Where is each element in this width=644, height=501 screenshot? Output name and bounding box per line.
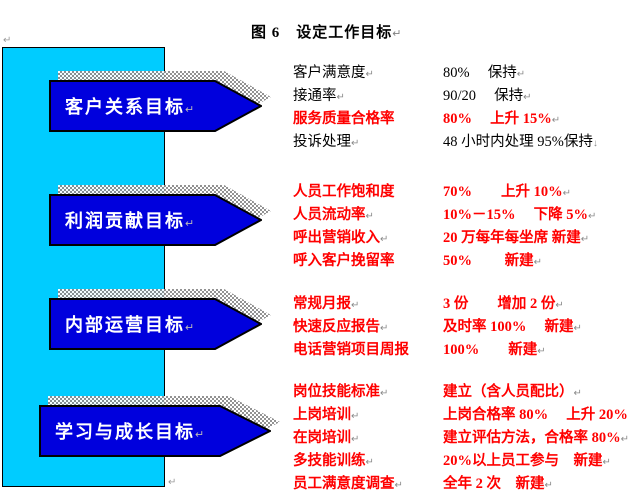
paragraph-mark-icon: ↵ — [621, 434, 629, 445]
goal-arrow-learning-growth[interactable]: 学习与成长目标↵ — [39, 405, 271, 457]
paragraph-mark-icon: ↵ — [351, 411, 359, 422]
metric-label: 投诉处理↵ — [293, 131, 443, 154]
metric-label-text: 岗位技能标准 — [293, 384, 380, 400]
paragraph-mark-icon: ↵ — [195, 429, 204, 441]
goal-metric-row: 人员工作饱和度 70% 上升 10%↵ — [293, 181, 596, 204]
paragraph-mark-icon: ↵ — [555, 300, 563, 311]
metric-value-text: 建立（含人员配比） — [443, 384, 574, 400]
metric-value-text: 上岗合格率 80% 上升 20% — [443, 407, 628, 423]
goal-arrow-internal-operations[interactable]: 内部运营目标↵ — [49, 298, 262, 350]
paragraph-mark-icon: ↵ — [366, 211, 374, 222]
paragraph-mark-icon: ↵ — [366, 457, 374, 468]
paragraph-mark-icon: ↵ — [523, 92, 531, 103]
goal-metric-group-customer-relations: 客户满意度↵ 80% 保持↵ 接通率↵ 90/20 保持↵ 服务质量合格率 80… — [293, 62, 598, 154]
metric-value: 建立（含人员配比）↵ — [443, 381, 629, 404]
goal-arrow-label: 利润贡献目标↵ — [65, 207, 194, 233]
goal-arrow-label-text: 学习与成长目标 — [55, 422, 195, 442]
metric-value-text: 100% 新建 — [443, 342, 537, 358]
paragraph-mark-icon: ↵ — [380, 388, 388, 399]
metric-label: 员工满意度调查↵ — [293, 473, 443, 496]
goal-metric-row: 在岗培训↵ 建立评估方法，合格率 80%↵ — [293, 427, 629, 450]
goal-metric-row: 人员流动率↵ 10%－15% 下降 5%↵ — [293, 204, 596, 227]
goal-metric-row: 上岗培训↵ 上岗合格率 80% 上升 20% — [293, 404, 629, 427]
goal-arrow-label-text: 内部运营目标 — [65, 315, 185, 335]
goal-metric-row: 多技能训练↵ 20%以上员工参与 新建↵ — [293, 450, 629, 473]
metric-value: 20%以上员工参与 新建↵ — [443, 450, 629, 473]
metric-label-text: 投诉处理 — [293, 134, 351, 150]
metric-label-text: 常规月报 — [293, 296, 351, 312]
metric-label: 电话营销项目周报 — [293, 339, 443, 362]
metric-value: 100% 新建↵ — [443, 339, 582, 362]
goal-metric-row: 常规月报↵ 3 份 增加 2 份↵ — [293, 293, 582, 316]
paragraph-mark-icon: ↵ — [574, 323, 582, 334]
goal-arrow-label: 客户关系目标↵ — [65, 93, 194, 119]
metric-label-text: 呼出营销收入 — [293, 230, 380, 246]
paragraph-mark-icon: ↓ — [593, 138, 598, 149]
metric-label: 客户满意度↵ — [293, 62, 443, 85]
metric-label: 呼入客户挽留率 — [293, 250, 443, 273]
paragraph-mark-icon-top-left: ↵ — [3, 36, 11, 46]
paragraph-mark-icon: ↵ — [351, 300, 359, 311]
metric-label-text: 在岗培训 — [293, 430, 351, 446]
metric-label: 服务质量合格率 — [293, 108, 443, 131]
paragraph-mark-icon: ↵ — [517, 69, 525, 80]
paragraph-mark-icon: ↵ — [588, 211, 596, 222]
page-title-text: 图 6 设定工作目标 — [251, 25, 392, 41]
paragraph-mark-icon: ↵ — [351, 138, 359, 149]
paragraph-mark-icon: ↵ — [380, 323, 388, 334]
metric-label: 上岗培训↵ — [293, 404, 443, 427]
paragraph-mark-icon: ↵ — [380, 234, 388, 245]
metric-label-text: 多技能训练 — [293, 453, 366, 469]
goal-metric-group-profit-contribution: 人员工作饱和度 70% 上升 10%↵ 人员流动率↵ 10%－15% 下降 5%… — [293, 181, 596, 273]
paragraph-mark-icon: ↵ — [185, 218, 194, 230]
paragraph-mark-icon: ↵ — [603, 457, 611, 468]
goal-metric-row: 投诉处理↵ 48 小时内处理 95%保持↓ — [293, 131, 598, 154]
metric-label: 常规月报↵ — [293, 293, 443, 316]
paragraph-mark-icon: ↵ — [574, 388, 582, 399]
page-title: 图 6 设定工作目标↵ — [0, 4, 644, 42]
metric-value-text: 80% 上升 15% — [443, 111, 552, 127]
goal-metric-row: 接通率↵ 90/20 保持↵ — [293, 85, 598, 108]
metric-label-text: 人员流动率 — [293, 207, 366, 223]
paragraph-mark-icon: ↵ — [185, 322, 194, 334]
goal-metric-row: 岗位技能标准↵ 建立（含人员配比）↵ — [293, 381, 629, 404]
paragraph-mark-icon: ↵ — [537, 346, 545, 357]
paragraph-mark-icon: ↵ — [534, 257, 542, 268]
metric-value: 及时率 100% 新建↵ — [443, 316, 582, 339]
paragraph-mark-icon: ↵ — [392, 28, 402, 40]
goal-metric-row: 服务质量合格率 80% 上升 15%↵ — [293, 108, 598, 131]
paragraph-mark-icon: ↵ — [351, 434, 359, 445]
metric-label: 多技能训练↵ — [293, 450, 443, 473]
metric-label: 在岗培训↵ — [293, 427, 443, 450]
metric-value: 80% 上升 15%↵ — [443, 108, 598, 131]
metric-value: 全年 2 次 新建↵ — [443, 473, 629, 496]
paragraph-mark-icon: ↵ — [581, 234, 589, 245]
metric-value: 20 万每年每坐席 新建↵ — [443, 227, 596, 250]
goal-metric-row: 电话营销项目周报 100% 新建↵ — [293, 339, 582, 362]
metric-label: 人员流动率↵ — [293, 204, 443, 227]
metric-value: 70% 上升 10%↵ — [443, 181, 596, 204]
paragraph-mark-icon: ↵ — [563, 188, 571, 199]
metric-label: 岗位技能标准↵ — [293, 381, 443, 404]
metric-value: 48 小时内处理 95%保持↓ — [443, 131, 598, 154]
goal-metric-group-internal-operations: 常规月报↵ 3 份 增加 2 份↵ 快速反应报告↵ 及时率 100% 新建↵ 电… — [293, 293, 582, 362]
metric-value: 建立评估方法，合格率 80%↵ — [443, 427, 629, 450]
metric-label: 接通率↵ — [293, 85, 443, 108]
goal-metric-row: 快速反应报告↵ 及时率 100% 新建↵ — [293, 316, 582, 339]
metric-label-text: 呼入客户挽留率 — [293, 253, 395, 269]
metric-value-text: 全年 2 次 新建 — [443, 476, 545, 492]
metric-value: 80% 保持↵ — [443, 62, 598, 85]
metric-label: 人员工作饱和度 — [293, 181, 443, 204]
metric-value-text: 3 份 增加 2 份 — [443, 296, 555, 312]
paragraph-mark-icon: ↵ — [552, 115, 560, 126]
paragraph-mark-icon: ↵ — [545, 480, 553, 491]
metric-value: 50% 新建↵ — [443, 250, 596, 273]
metric-label-text: 上岗培训 — [293, 407, 351, 423]
goal-arrow-label: 学习与成长目标↵ — [55, 418, 204, 444]
goal-metric-row: 呼入客户挽留率 50% 新建↵ — [293, 250, 596, 273]
goal-arrow-label-text: 客户关系目标 — [65, 97, 185, 117]
metric-value-text: 48 小时内处理 95%保持 — [443, 134, 593, 150]
metric-label-text: 服务质量合格率 — [293, 111, 395, 127]
goal-metric-row: 呼出营销收入↵ 20 万每年每坐席 新建↵ — [293, 227, 596, 250]
metric-value-text: 90/20 保持 — [443, 88, 523, 104]
goal-metric-row: 员工满意度调查↵ 全年 2 次 新建↵ — [293, 473, 629, 496]
paragraph-mark-icon: ↵ — [395, 480, 403, 491]
metric-label-text: 电话营销项目周报 — [293, 342, 409, 358]
metric-value: 上岗合格率 80% 上升 20% — [443, 404, 629, 427]
metric-value-text: 50% 新建 — [443, 253, 534, 269]
metric-label: 快速反应报告↵ — [293, 316, 443, 339]
metric-value: 90/20 保持↵ — [443, 85, 598, 108]
goal-arrow-label: 内部运营目标↵ — [65, 311, 194, 337]
goal-arrow-profit-contribution[interactable]: 利润贡献目标↵ — [49, 194, 262, 246]
metric-label-text: 员工满意度调查 — [293, 476, 395, 492]
metric-value-text: 建立评估方法，合格率 80% — [443, 430, 621, 446]
metric-value-text: 80% 保持 — [443, 65, 517, 81]
metric-label-text: 人员工作饱和度 — [293, 184, 395, 200]
metric-value-text: 20%以上员工参与 新建 — [443, 453, 603, 469]
metric-label-text: 接通率 — [293, 88, 337, 104]
paragraph-mark-icon: ↵ — [366, 69, 374, 80]
metric-value-text: 及时率 100% 新建 — [443, 319, 574, 335]
goal-arrow-customer-relations[interactable]: 客户关系目标↵ — [49, 80, 262, 132]
metric-value-text: 10%－15% 下降 5% — [443, 207, 588, 223]
metric-value: 10%－15% 下降 5%↵ — [443, 204, 596, 227]
paragraph-mark-icon: ↵ — [337, 92, 345, 103]
metric-value-text: 70% 上升 10% — [443, 184, 563, 200]
paragraph-mark-icon: ↵ — [185, 104, 194, 116]
metric-label: 呼出营销收入↵ — [293, 227, 443, 250]
goal-metric-row: 客户满意度↵ 80% 保持↵ — [293, 62, 598, 85]
metric-value: 3 份 增加 2 份↵ — [443, 293, 582, 316]
metric-label-text: 客户满意度 — [293, 65, 366, 81]
metric-value-text: 20 万每年每坐席 新建 — [443, 230, 581, 246]
metric-label-text: 快速反应报告 — [293, 319, 380, 335]
paragraph-mark-icon-box-end: ↵ — [168, 478, 176, 488]
goal-arrow-label-text: 利润贡献目标 — [65, 211, 185, 231]
goal-metric-group-learning-growth: 岗位技能标准↵ 建立（含人员配比）↵ 上岗培训↵ 上岗合格率 80% 上升 20… — [293, 381, 629, 496]
